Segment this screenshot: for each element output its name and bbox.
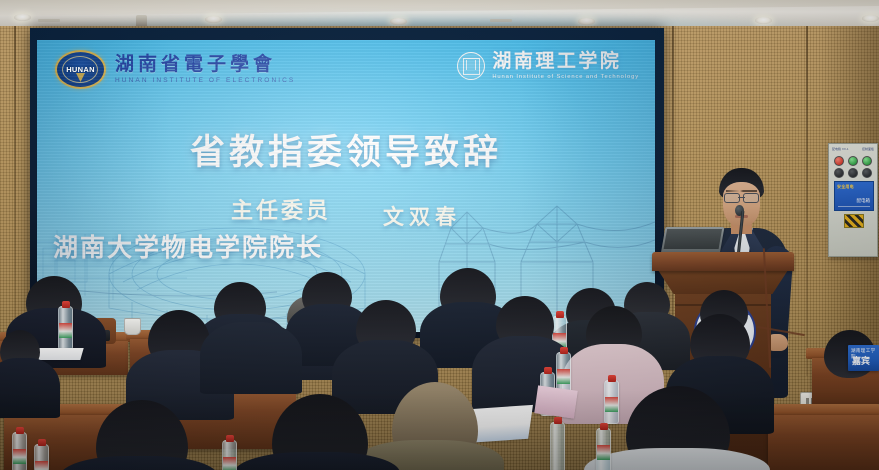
water-bottle-icon bbox=[58, 306, 73, 350]
ceiling-vent-icon bbox=[490, 19, 512, 22]
right-org-names: 湖南理工学院 Hunan Institute of Science and Te… bbox=[492, 52, 639, 80]
slide-logo-right: 湖南理工学院 Hunan Institute of Science and Te… bbox=[457, 52, 639, 80]
left-org-name-en: HUNAN INSTITUTE OF ELECTRONICS bbox=[115, 77, 295, 84]
presenter-brow bbox=[726, 190, 757, 192]
wall-seam bbox=[806, 26, 808, 376]
speaker-name: 文双春 bbox=[383, 201, 461, 231]
panel-plate-text: 配电箱 bbox=[857, 198, 871, 204]
hunan-mark-text: HUNAN bbox=[66, 65, 95, 74]
water-bottle-icon bbox=[34, 444, 49, 470]
electrical-control-panel[interactable]: 配电箱 XX-1 控制面板 安全用电 配电箱 bbox=[828, 143, 878, 257]
right-org-name-cn: 湖南理工学院 bbox=[492, 52, 639, 71]
slide-subtitle-row: 主任委员 文双春 bbox=[37, 193, 655, 225]
left-org-name-cn: 湖南省電子學會 bbox=[115, 55, 295, 74]
indicator-lamp-red-icon bbox=[834, 156, 844, 166]
ceiling-vent-icon bbox=[38, 19, 60, 22]
paper-cup-icon bbox=[124, 318, 141, 335]
right-org-name-en: Hunan Institute of Science and Technolog… bbox=[492, 74, 639, 80]
eyeglasses-icon bbox=[723, 193, 760, 202]
downlight-icon bbox=[755, 17, 772, 24]
downlight-icon bbox=[390, 18, 407, 25]
water-bottle-icon bbox=[222, 440, 237, 470]
downlight-icon bbox=[205, 16, 222, 23]
document-paper bbox=[534, 385, 578, 418]
water-bottle-icon bbox=[550, 422, 565, 470]
panel-header-right: 控制面板 bbox=[862, 147, 874, 152]
podium-top bbox=[652, 252, 794, 271]
university-seal-icon bbox=[457, 52, 485, 80]
push-button-start[interactable] bbox=[848, 168, 858, 178]
conference-photo-scene: HUNAN 湖南省電子學會 HUNAN INSTITUTE OF ELECTRO… bbox=[0, 0, 879, 470]
panel-plate-title: 安全用电 bbox=[837, 184, 854, 190]
laptop-icon bbox=[661, 227, 725, 255]
name-placard: 湖南理工学院 嘉宾 bbox=[848, 345, 879, 371]
hunan-emblem-icon: HUNAN bbox=[55, 50, 106, 89]
wall-seam bbox=[14, 26, 16, 326]
push-button-row[interactable] bbox=[834, 168, 872, 178]
indicator-lamp-green-icon bbox=[848, 156, 858, 166]
panel-plate-rule bbox=[838, 206, 870, 207]
audience-torso bbox=[0, 358, 60, 418]
push-button-stop[interactable] bbox=[834, 168, 844, 178]
indicator-lamp-row bbox=[834, 156, 872, 166]
audience-torso bbox=[200, 322, 302, 394]
electrical-hazard-icon bbox=[844, 214, 864, 228]
water-bottle-icon bbox=[604, 380, 619, 424]
water-bottle-icon bbox=[12, 432, 27, 470]
downlight-icon bbox=[14, 14, 31, 21]
speaker-role: 主任委员 bbox=[231, 193, 331, 225]
downlight-icon bbox=[578, 18, 595, 25]
push-button-reset[interactable] bbox=[862, 168, 872, 178]
slide-logo-left: HUNAN 湖南省電子學會 HUNAN INSTITUTE OF ELECTRO… bbox=[55, 50, 295, 89]
slide-title: 省教指委领导致辞 bbox=[37, 124, 655, 175]
placard-name: 嘉宾 bbox=[852, 354, 870, 367]
panel-header: 配电箱 XX-1 控制面板 bbox=[832, 147, 874, 152]
panel-header-left: 配电箱 XX-1 bbox=[832, 147, 849, 152]
indicator-lamp-green-icon bbox=[862, 156, 872, 166]
water-bottle-icon bbox=[596, 428, 611, 470]
panel-label-plate: 安全用电 配电箱 bbox=[834, 181, 874, 211]
desk bbox=[768, 415, 879, 470]
downlight-icon bbox=[862, 15, 879, 22]
speaker-affiliation: 湖南大学物电学院院长 bbox=[53, 228, 323, 264]
left-org-names: 湖南省電子學會 HUNAN INSTITUTE OF ELECTRONICS bbox=[115, 55, 295, 84]
